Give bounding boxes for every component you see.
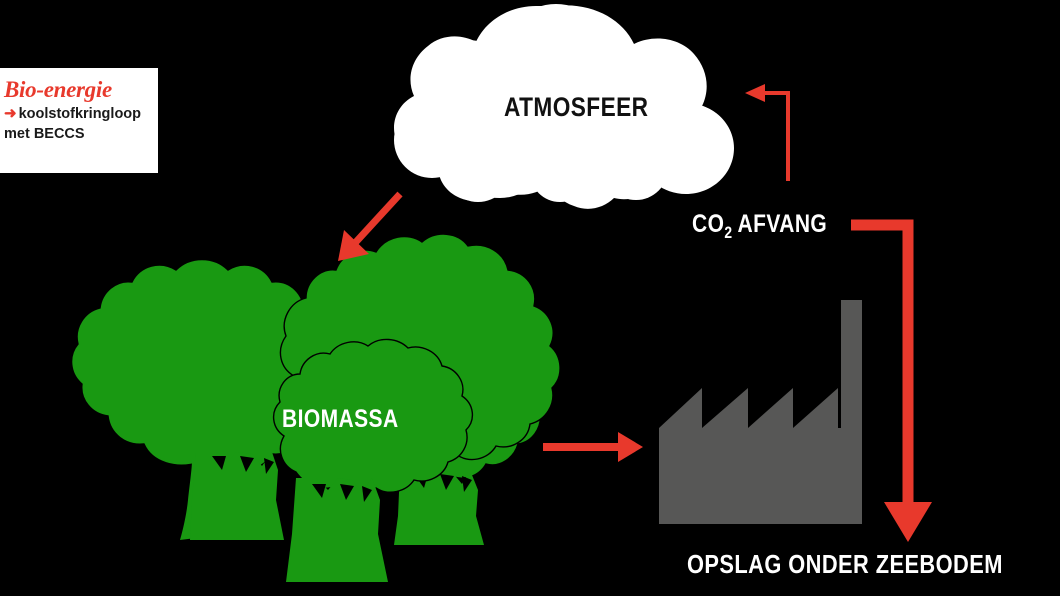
logo-title: Bio-energie (4, 77, 158, 102)
label-opslag-onder-zeebodem: OPSLAG ONDER ZEEBODEM (687, 549, 1003, 580)
label-co2-prefix: CO (692, 210, 724, 238)
diagram-canvas: Bio-energie ➜koolstofkringloop met BECCS… (0, 0, 1060, 596)
arrow-capture-to-storage (851, 225, 932, 542)
logo-box: Bio-energie ➜koolstofkringloop met BECCS (0, 68, 158, 173)
diagram-shapes (0, 0, 1060, 596)
arrow-capture-to-atmosphere (745, 84, 788, 181)
label-biomassa: BIOMASSA (282, 405, 399, 434)
logo-subtitle-line-1: ➜koolstofkringloop (4, 104, 158, 124)
factory-shape (659, 300, 862, 524)
label-co2-suffix: AFVANG (732, 210, 827, 238)
logo-subtitle-line-2: met BECCS (4, 124, 158, 144)
arrow-biomass-to-factory (543, 432, 643, 462)
label-atmosfeer: ATMOSFEER (504, 92, 648, 123)
logo-subtitle-text: koolstofkringloop (19, 106, 141, 122)
label-co2-subscript: 2 (724, 224, 732, 242)
label-co2-afvang: CO2 AFVANG (692, 210, 827, 243)
right-arrow-icon: ➜ (4, 105, 17, 122)
tree-center-front (274, 339, 473, 582)
